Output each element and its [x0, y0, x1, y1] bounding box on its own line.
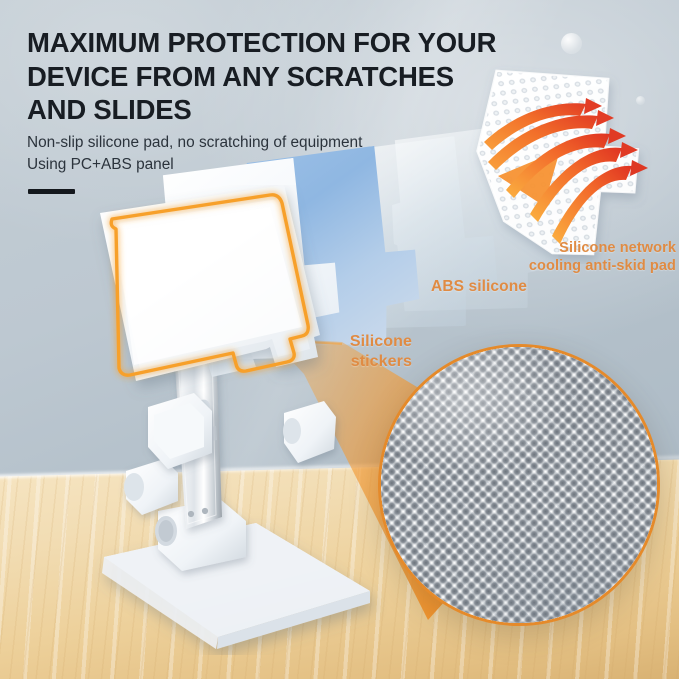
callout-line-2: cooling anti-skid pad	[480, 258, 676, 276]
infographic-canvas: MAXIMUM PROTECTION FOR YOUR DEVICE FROM …	[0, 0, 679, 679]
page-title: MAXIMUM PROTECTION FOR YOUR DEVICE FROM …	[27, 26, 567, 127]
phone-tablet-stand-graphic	[70, 185, 400, 655]
callout-line-1: ABS silicone	[355, 277, 527, 296]
headline-line-2: DEVICE FROM ANY SCRATCHES	[27, 60, 567, 94]
callout-silicone-network: Silicone network cooling anti-skid pad	[480, 240, 676, 276]
magnifier-gloss	[381, 347, 657, 623]
callout-line-1: Silicone	[280, 332, 412, 352]
page-subtitle: Non-slip silicone pad, no scratching of …	[27, 132, 497, 176]
callout-line-1: Silicone network	[480, 240, 676, 258]
subtitle-line-2: Using PC+ABS panel	[27, 154, 497, 176]
callout-line-2: stickers	[280, 352, 412, 372]
callout-silicone-stickers: Silicone stickers	[280, 332, 412, 372]
headline-line-3: AND SLIDES	[27, 93, 567, 127]
magnified-texture-circle	[378, 344, 660, 626]
headline-line-1: MAXIMUM PROTECTION FOR YOUR	[27, 26, 567, 60]
accent-rule-divider	[28, 189, 75, 194]
subtitle-line-1: Non-slip silicone pad, no scratching of …	[27, 132, 497, 154]
callout-abs-silicone: ABS silicone	[355, 277, 527, 296]
